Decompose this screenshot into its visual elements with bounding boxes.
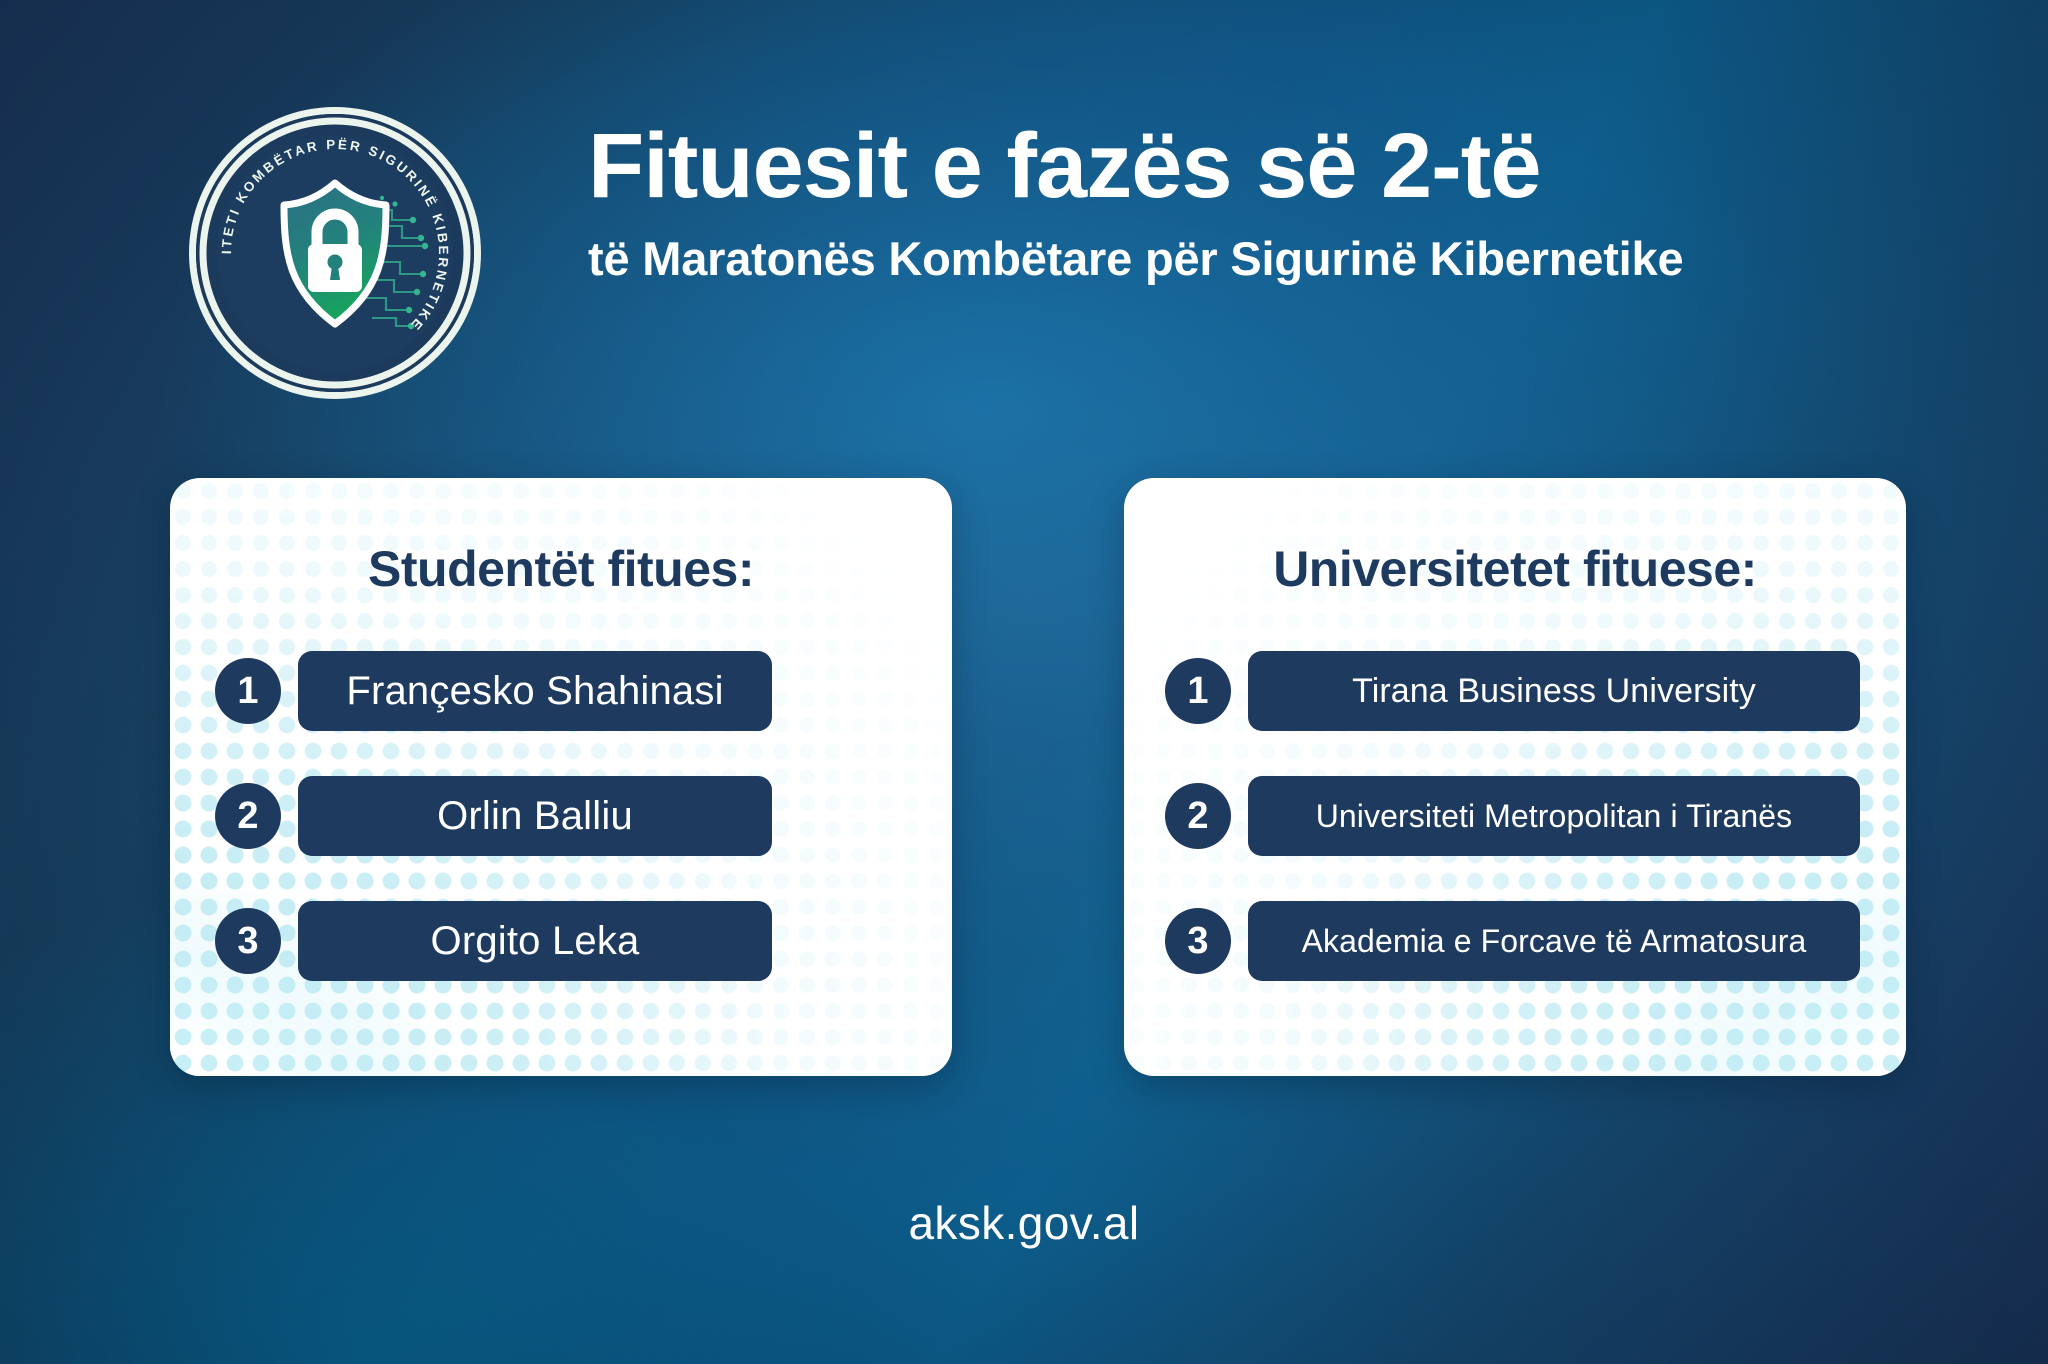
winner-pill[interactable]: Universiteti Metropolitan i Tiranës (1248, 776, 1860, 856)
rank-badge: 3 (215, 908, 281, 974)
winner-pill[interactable]: Françesko Shahinasi (298, 651, 772, 731)
winner-name: Universiteti Metropolitan i Tiranës (1316, 798, 1793, 835)
header-text-block: Fituesit e fazës së 2-të të Maratonës Ko… (588, 118, 1928, 286)
winners-cards-region: Studentët fitues: 1 Françesko Shahinasi … (0, 478, 2048, 1088)
students-list: 1 Françesko Shahinasi 2 Orlin Balliu 3 (170, 648, 952, 984)
rank-badge: 1 (1165, 658, 1231, 724)
rank-badge: 2 (215, 783, 281, 849)
winner-name: Tirana Business University (1352, 672, 1756, 711)
poster-header: AUTORITETI KOMBËTAR PËR SIGURINË KIBERNE… (0, 96, 2048, 356)
list-item[interactable]: 3 Orgito Leka (170, 898, 952, 984)
shield-padlock-circuit-icon: AUTORITETI KOMBËTAR PËR SIGURINË KIBERNE… (196, 114, 474, 392)
list-item[interactable]: 2 Universiteti Metropolitan i Tiranës (1124, 773, 1906, 859)
universities-card-heading: Universitetet fituese: (1124, 540, 1906, 598)
winner-name: Akademia e Forcave të Armatosura (1302, 923, 1807, 960)
winner-pill[interactable]: Akademia e Forcave të Armatosura (1248, 901, 1860, 981)
list-item[interactable]: 2 Orlin Balliu (170, 773, 952, 859)
list-item[interactable]: 1 Françesko Shahinasi (170, 648, 952, 734)
winner-pill[interactable]: Orgito Leka (298, 901, 772, 981)
aksk-logo: AUTORITETI KOMBËTAR PËR SIGURINË KIBERNE… (196, 114, 474, 392)
students-card-heading: Studentët fitues: (170, 540, 952, 598)
page-subtitle: të Maratonës Kombëtare për Sigurinë Kibe… (588, 232, 1928, 286)
website-footer[interactable]: aksk.gov.al (0, 1196, 2048, 1250)
winner-name: Orgito Leka (431, 919, 640, 964)
page-title: Fituesit e fazës së 2-të (588, 118, 1928, 216)
rank-badge: 3 (1165, 908, 1231, 974)
list-item[interactable]: 3 Akademia e Forcave të Armatosura (1124, 898, 1906, 984)
list-item[interactable]: 1 Tirana Business University (1124, 648, 1906, 734)
winner-pill[interactable]: Tirana Business University (1248, 651, 1860, 731)
universities-list: 1 Tirana Business University 2 Universit… (1124, 648, 1906, 984)
rank-badge: 1 (215, 658, 281, 724)
students-card: Studentët fitues: 1 Françesko Shahinasi … (170, 478, 952, 1076)
winner-name: Françesko Shahinasi (346, 669, 723, 714)
winner-pill[interactable]: Orlin Balliu (298, 776, 772, 856)
universities-card: Universitetet fituese: 1 Tirana Business… (1124, 478, 1906, 1076)
winner-name: Orlin Balliu (437, 794, 633, 839)
poster-canvas: AUTORITETI KOMBËTAR PËR SIGURINË KIBERNE… (0, 0, 2048, 1364)
rank-badge: 2 (1165, 783, 1231, 849)
